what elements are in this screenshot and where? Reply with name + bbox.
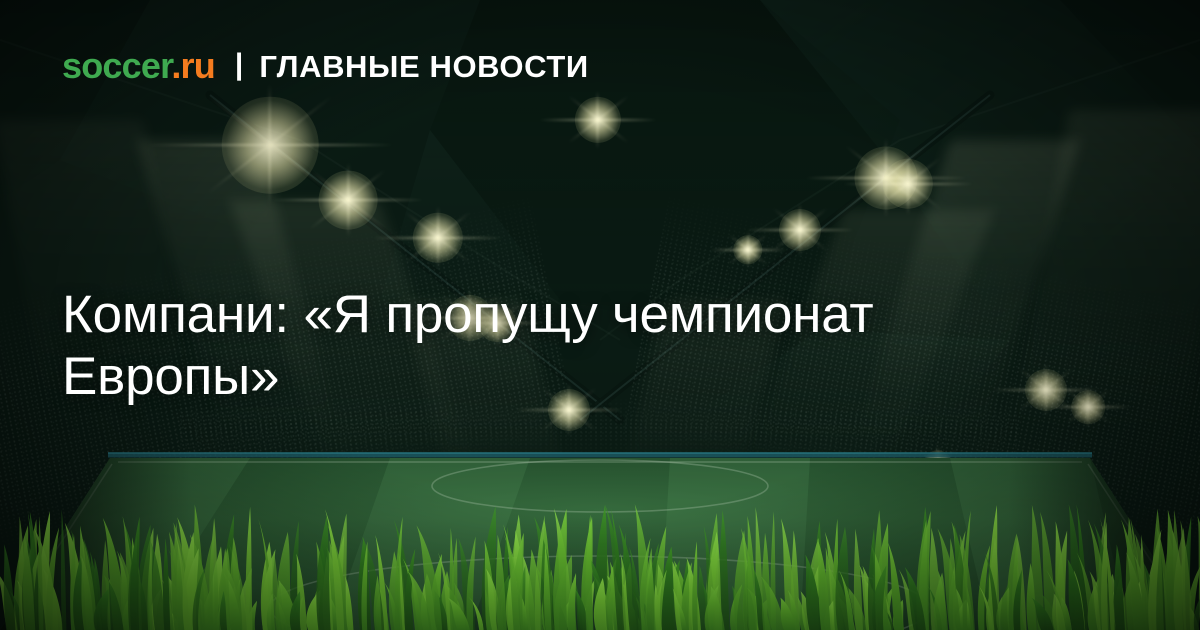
- logo-word: soccer: [62, 45, 171, 86]
- soccer-ru-logo[interactable]: soccer.ru: [62, 48, 215, 84]
- site-header: soccer.ru | ГЛАВНЫЕ НОВОСТИ: [62, 48, 589, 84]
- article-headline: Компани: «Я пропущу чемпионат Европы»: [62, 284, 1042, 408]
- header-divider: |: [235, 50, 243, 80]
- header-kicker: ГЛАВНЫЕ НОВОСТИ: [259, 51, 588, 82]
- share-card: soccer.ru | ГЛАВНЫЕ НОВОСТИ Компани: «Я …: [0, 0, 1200, 630]
- logo-tld: .ru: [171, 45, 215, 86]
